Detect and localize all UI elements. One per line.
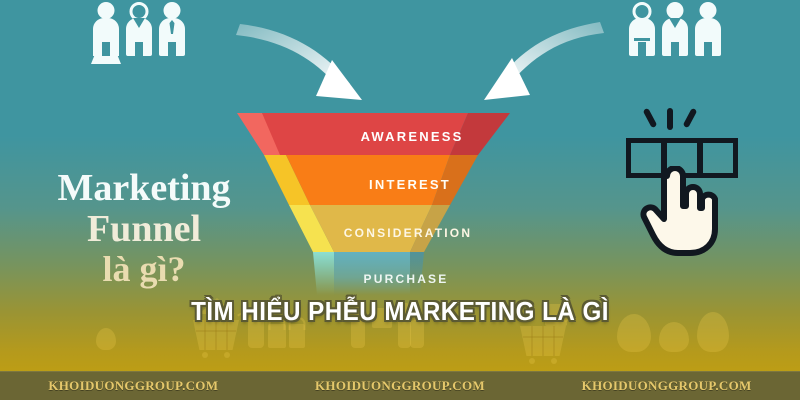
poster-canvas: AWARENESS INTEREST CONSIDERATION PURCHAS…	[0, 0, 800, 400]
footer-watermark-bar: KHOIDUONGGROUP.COM KHOIDUONGGROUP.COM KH…	[0, 371, 800, 400]
watermark-text: KHOIDUONGGROUP.COM	[582, 378, 752, 394]
funnel-label-interest: INTEREST	[369, 177, 451, 192]
curved-arrow-down-right-icon	[484, 22, 604, 100]
funnel-label-awareness: AWARENESS	[361, 129, 464, 144]
watermark-text: KHOIDUONGGROUP.COM	[48, 378, 218, 394]
person-ring-head-icon	[628, 2, 656, 56]
blob-shape	[96, 328, 116, 350]
watermark-text: KHOIDUONGGROUP.COM	[315, 378, 485, 394]
motion-line-icon	[643, 108, 658, 128]
person-skirt-icon	[92, 2, 120, 56]
title-line-2: Funnel	[24, 209, 264, 250]
people-group-left	[92, 2, 186, 56]
person-ring-head-icon	[125, 2, 153, 56]
motion-line-icon	[667, 108, 673, 130]
shopping-bag-icon	[289, 324, 305, 348]
title-line-1: Marketing	[24, 168, 264, 209]
motion-line-icon	[683, 108, 698, 128]
funnel-label-consideration: CONSIDERATION	[344, 226, 472, 240]
person-tie-icon	[661, 2, 689, 56]
title-line-3: là gì?	[24, 250, 264, 289]
hand-icon	[639, 166, 719, 258]
banner-headline: TÌM HIỂU PHỄU MARKETING LÀ GÌ	[28, 296, 772, 327]
funnel-label-purchase: PURCHASE	[364, 272, 449, 286]
person-tie-icon	[158, 2, 186, 56]
people-group-right	[628, 2, 722, 56]
shopping-bag-icon	[268, 324, 286, 348]
hand-pointer-click-icon	[617, 100, 737, 260]
page-title: Marketing Funnel là gì?	[24, 168, 264, 289]
curved-arrow-down-left-icon	[236, 24, 362, 100]
person-plain-icon	[694, 2, 722, 56]
